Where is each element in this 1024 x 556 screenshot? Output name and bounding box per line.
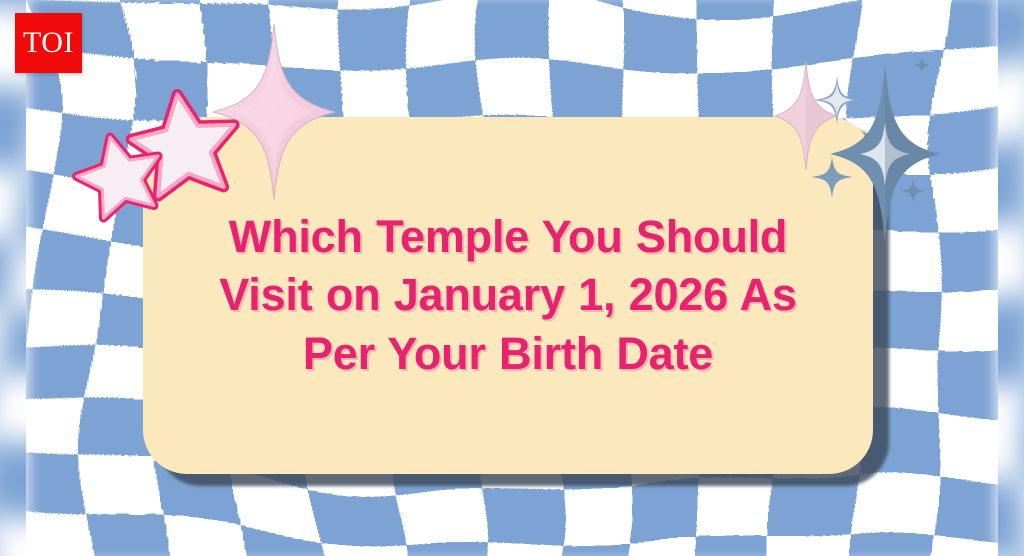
toi-logo-text: TOI xyxy=(23,28,74,58)
screenshot-root: Which Temple You Should Visit on January… xyxy=(0,0,1024,556)
toi-logo[interactable]: TOI xyxy=(15,13,82,73)
article-card: Which Temple You Should Visit on January… xyxy=(143,117,873,474)
page-title: Which Temple You Should Visit on January… xyxy=(198,208,818,384)
